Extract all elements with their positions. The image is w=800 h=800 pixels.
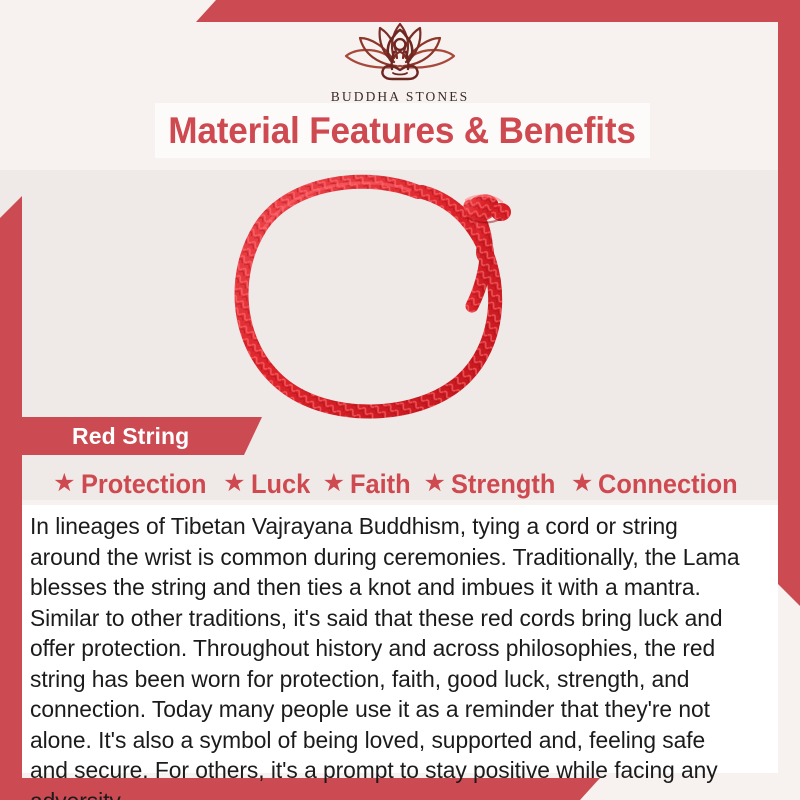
infographic-poster: BUDDHA STONES Material Features & Benefi… xyxy=(0,0,800,800)
frame-left-red-bar xyxy=(0,196,22,800)
red-string-bracelet-image xyxy=(220,166,550,436)
benefit-label: Connection xyxy=(598,469,738,500)
benefit-label: Luck xyxy=(251,469,310,500)
description-card: In lineages of Tibetan Vajrayana Buddhis… xyxy=(22,505,778,773)
lotus-meditation-icon xyxy=(336,16,464,87)
product-image-area xyxy=(22,170,778,430)
benefit-item: ★ Luck xyxy=(223,469,313,500)
brand-logo: BUDDHA STONES xyxy=(0,16,800,105)
benefit-item: ★ Protection xyxy=(53,469,214,500)
benefit-item: ★ Strength xyxy=(423,469,561,500)
benefit-item: ★ Connection xyxy=(571,469,747,500)
headline-band: Material Features & Benefits xyxy=(155,103,650,158)
star-icon: ★ xyxy=(53,471,75,496)
star-icon: ★ xyxy=(323,471,345,496)
star-icon: ★ xyxy=(423,471,445,496)
star-icon: ★ xyxy=(571,471,593,496)
benefit-label: Faith xyxy=(350,469,411,500)
star-icon: ★ xyxy=(223,471,245,496)
benefits-row: ★ Protection ★ Luck ★ Faith ★ Strength ★… xyxy=(22,463,778,505)
material-name-label: Red String xyxy=(72,423,189,450)
benefit-item: ★ Faith xyxy=(323,469,415,500)
benefit-label: Strength xyxy=(451,469,555,500)
page-title: Material Features & Benefits xyxy=(169,110,636,152)
benefit-label: Protection xyxy=(81,469,207,500)
description-text: In lineages of Tibetan Vajrayana Buddhis… xyxy=(30,511,742,800)
material-name-ribbon: Red String xyxy=(22,417,262,455)
